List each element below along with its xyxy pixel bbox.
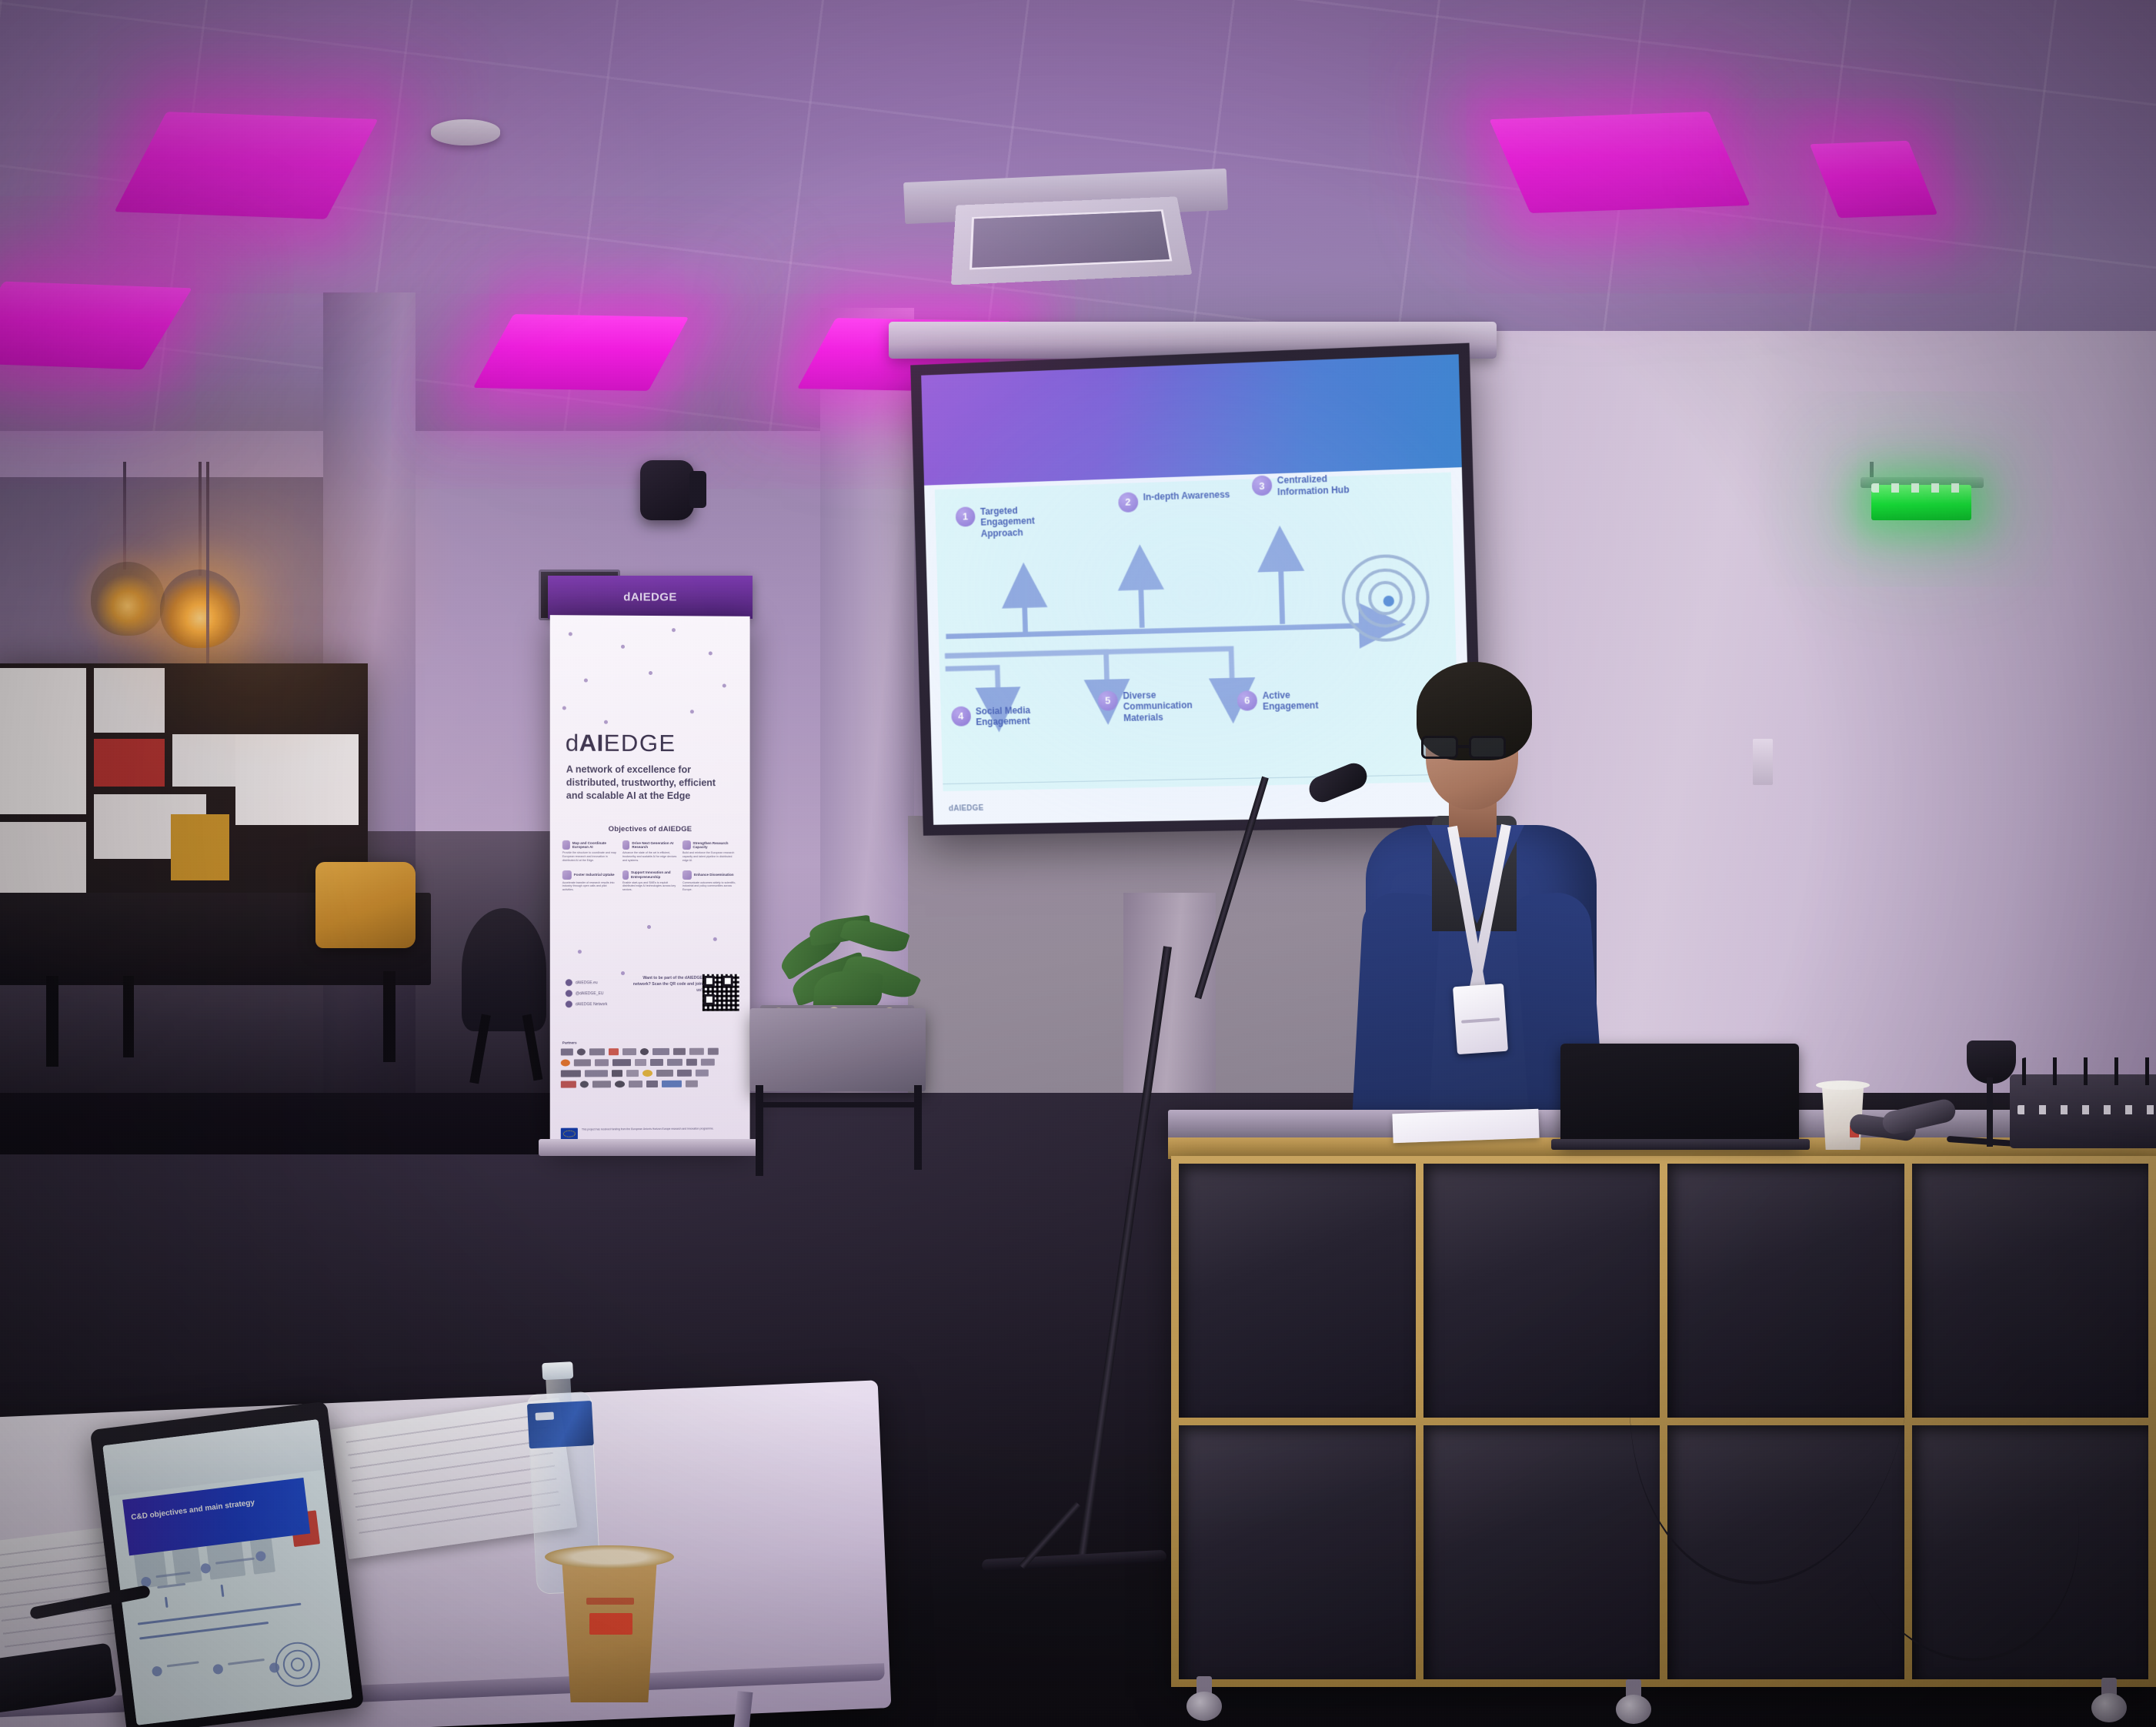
- partner-logo: [592, 1081, 611, 1087]
- partner-logo: [673, 1048, 686, 1055]
- partner-logo: [580, 1081, 589, 1087]
- wall-socket-plate: [1753, 739, 1773, 785]
- banner-link[interactable]: @dAIEDGE_EU: [566, 990, 608, 997]
- partner-logo-row: [561, 1069, 739, 1077]
- partner-logo: [595, 1059, 609, 1066]
- planter-stand-leg: [914, 1085, 922, 1170]
- objective-title: Enhance Dissemination: [694, 873, 734, 877]
- partner-logo-row: [561, 1058, 739, 1066]
- objective-text: Advance the state of the art in efficien…: [622, 851, 678, 863]
- audio-rack-handles: [2016, 1057, 2156, 1085]
- objective-icon: [622, 840, 629, 850]
- partner-logo: [561, 1081, 576, 1087]
- partner-logo-row: [561, 1048, 739, 1056]
- foreground-laptop[interactable]: C&D objectives and main strategy: [90, 1401, 364, 1727]
- partner-logo: [646, 1081, 658, 1087]
- roll-up-banner: dAIEDGE A network of excellence for dist…: [550, 615, 750, 1147]
- mini-arrow: [220, 1584, 224, 1596]
- audio-rack-leds: [2017, 1105, 2156, 1114]
- slide-objective: 4 Social Media Engagement: [951, 704, 1031, 728]
- slide-objective: 5 Diverse Communication Materials: [1098, 689, 1193, 725]
- eu-flag-icon: [561, 1128, 578, 1140]
- partner-logo: [640, 1048, 649, 1055]
- banner-objectives-heading: Objectives of dAIEDGE: [550, 825, 750, 833]
- objective-number: 3: [1252, 475, 1273, 496]
- globe-icon: [566, 979, 572, 986]
- banner-cta-text: Want to be part of the dAIEDGE network? …: [627, 976, 703, 994]
- banner-link-label: dAIEDGE Network: [576, 1002, 608, 1007]
- linkedin-icon: [566, 1000, 572, 1007]
- partner-logo: [708, 1048, 719, 1055]
- presenter-view-slide: C&D objectives and main strategy: [102, 1419, 352, 1725]
- banner-base: [539, 1139, 763, 1156]
- partner-logo: [667, 1059, 683, 1066]
- partner-logo: [662, 1081, 682, 1087]
- shelf-cube: [1179, 1164, 1416, 1418]
- partner-logo: [615, 1081, 625, 1087]
- desk-laptop[interactable]: [1560, 1044, 1799, 1145]
- mini-label: [167, 1661, 199, 1667]
- slide-objective: 6 Active Engagement: [1237, 689, 1318, 713]
- partner-logo: [689, 1048, 704, 1055]
- planter-stand-rail: [756, 1102, 922, 1107]
- objective-label: In-depth Awareness: [1143, 489, 1230, 503]
- bench-leg: [383, 971, 395, 1062]
- partner-logo: [701, 1059, 715, 1066]
- desktop-mic-stand: [1987, 1077, 1993, 1147]
- paper-cup-rim: [1816, 1081, 1870, 1090]
- partner-logo: [650, 1059, 663, 1066]
- target-rings-icon: [1341, 553, 1437, 649]
- lounge-chair: [462, 908, 546, 1031]
- pendant-cord: [123, 462, 126, 570]
- kraft-cup-logo-top: [586, 1598, 634, 1605]
- wall-speaker: [640, 460, 694, 520]
- planter-stand-leg: [756, 1085, 763, 1176]
- banner-objective-block: Enhance Dissemination Communicate outcom…: [683, 870, 738, 893]
- kraft-cup-logo: [589, 1613, 632, 1635]
- objective-title: Strengthen Research Capacity: [693, 841, 737, 849]
- partner-logo: [677, 1070, 692, 1077]
- banner-tagline: A network of excellence for distributed,…: [566, 763, 728, 803]
- pendant-cord: [199, 462, 202, 576]
- objective-number: 5: [1098, 690, 1118, 710]
- pendant-cord: [206, 462, 209, 685]
- shelf-caster: [2091, 1678, 2127, 1722]
- banner-objective-block: Drive Next Generation AI Research Advanc…: [622, 840, 678, 863]
- objective-icon: [683, 840, 691, 850]
- partner-logo: [585, 1070, 608, 1077]
- mondrian-cell-red: [94, 739, 165, 787]
- partner-logo: [686, 1059, 697, 1066]
- objective-title: Foster Industrial Uptake: [574, 873, 615, 877]
- objective-text: Enable start-ups and SMEs to exploit dis…: [622, 881, 678, 893]
- objective-number: 4: [951, 706, 971, 726]
- banner-link[interactable]: dAIEDGE.eu: [566, 979, 608, 986]
- partner-logo: [629, 1081, 642, 1087]
- wordmark-ai: AI: [579, 730, 604, 757]
- mondrian-cell-white: [94, 668, 165, 733]
- objective-text: Provide the structure to coordinate and …: [562, 851, 618, 863]
- objective-label: Active Engagement: [1262, 689, 1318, 713]
- banner-link-label: @dAIEDGE_EU: [576, 991, 604, 996]
- mondrian-wall-art: [0, 663, 368, 917]
- objective-icon: [683, 870, 692, 880]
- partner-logo: [561, 1048, 573, 1055]
- partner-logo: [612, 1059, 631, 1066]
- bench-leg: [123, 976, 134, 1057]
- qr-code[interactable]: [703, 974, 739, 1011]
- objective-title: Drive Next Generation AI Research: [632, 841, 678, 849]
- objective-title: Support Innovation and Entrepreneurship: [631, 870, 678, 878]
- kraft-cup-rim: [545, 1545, 674, 1568]
- objective-text: Accelerate transfer of research results …: [562, 881, 618, 893]
- banner-top-logo: dAIEDGE: [623, 591, 676, 604]
- shelf-cube: [1179, 1425, 1416, 1679]
- banner-link[interactable]: dAIEDGE Network: [566, 1000, 608, 1007]
- printed-notes[interactable]: [1392, 1109, 1539, 1144]
- mini-label: [228, 1659, 265, 1665]
- objective-label: Diverse Communication Materials: [1123, 689, 1193, 724]
- bottle-label-mark: [536, 1412, 554, 1421]
- mini-objective-node: [212, 1664, 223, 1675]
- shelf-caster: [1616, 1679, 1651, 1724]
- partner-logo: [561, 1059, 570, 1066]
- air-conditioning-vent: [951, 196, 1192, 285]
- conference-room-scene: C&D objectives and main strategy: [0, 0, 2156, 1727]
- objective-label: Targeted Engagement Approach: [980, 504, 1036, 539]
- banner-links: dAIEDGE.eu @dAIEDGE_EU dAIEDGE Network: [566, 979, 608, 1011]
- mini-arrow: [165, 1597, 169, 1608]
- partner-logo: [589, 1048, 605, 1055]
- bench-leg: [46, 976, 58, 1067]
- slide-header-bar: [921, 354, 1462, 485]
- banner-partner-logos: [561, 1048, 739, 1092]
- objective-text: Communicate outcomes widely to scientifi…: [683, 881, 738, 893]
- objective-label: Centralized Information Hub: [1277, 473, 1350, 498]
- banner-objective-block: Map and Coordinate European AI Provide t…: [562, 840, 618, 863]
- objective-text: Build and reinforce the European researc…: [683, 851, 738, 863]
- slide-objective: 1 Targeted Engagement Approach: [956, 504, 1036, 540]
- objective-number: 2: [1118, 492, 1138, 513]
- partner-logo: [696, 1070, 709, 1077]
- mini-target-rings: [273, 1639, 325, 1691]
- slide-footer-logo: dAIEDGE: [949, 804, 984, 813]
- desk-laptop-base: [1551, 1139, 1810, 1150]
- partner-logo: [642, 1070, 652, 1077]
- partner-logo: [622, 1048, 636, 1055]
- banner-objective-block: Strengthen Research Capacity Build and r…: [683, 840, 738, 863]
- objective-icon: [622, 870, 629, 880]
- partner-logo: [612, 1070, 622, 1077]
- banner-objectives-grid: Map and Coordinate European AI Provide t…: [562, 840, 738, 892]
- wordmark-edge: EDGE: [604, 730, 676, 757]
- vent-grille: [970, 209, 1172, 269]
- objective-label: Social Media Engagement: [976, 704, 1031, 728]
- bottle-cap[interactable]: [542, 1361, 573, 1380]
- partner-logo: [577, 1048, 586, 1055]
- foreground-laptop-screen[interactable]: C&D objectives and main strategy: [102, 1419, 352, 1725]
- speaker-mount: [689, 471, 706, 508]
- objective-number: 1: [956, 506, 976, 527]
- funding-text: This project has received funding from t…: [582, 1127, 739, 1131]
- pendant-lamp: [91, 562, 165, 636]
- banner-objective-block: Foster Industrial Uptake Accelerate tran…: [562, 870, 618, 892]
- shelf-cube: [1423, 1425, 1660, 1679]
- partner-logo-row: [561, 1080, 739, 1087]
- shelf-cube: [1423, 1164, 1660, 1418]
- objective-number: 6: [1237, 690, 1257, 711]
- mondrian-cell-yellow: [171, 814, 229, 880]
- partner-logo: [626, 1070, 639, 1077]
- mini-arrow: [138, 1603, 302, 1625]
- banner-funding-statement: This project has received funding from t…: [561, 1127, 739, 1139]
- banner-objective-block: Support Innovation and Entrepreneurship …: [622, 870, 678, 893]
- mondrian-cell-white: [235, 734, 359, 825]
- ceiling-led-panel: [1489, 112, 1750, 213]
- twitter-icon: [566, 990, 572, 997]
- bottle-label: [527, 1401, 594, 1448]
- partner-logo: [652, 1048, 669, 1055]
- planter-box: [750, 1008, 926, 1091]
- shelf-caster: [1186, 1676, 1222, 1721]
- partner-logo: [574, 1059, 591, 1066]
- mondrian-cell-white: [0, 668, 86, 814]
- banner-partners-label: Partners: [562, 1041, 577, 1044]
- glasses-icon: [1421, 736, 1515, 759]
- partner-logo: [656, 1070, 673, 1077]
- mini-arrow: [139, 1621, 269, 1639]
- objective-icon: [562, 870, 572, 879]
- slide-objective: 2 In-depth Awareness: [1118, 489, 1230, 513]
- orange-cushion: [315, 862, 416, 948]
- mini-objective-node: [152, 1665, 162, 1676]
- partner-logo: [686, 1081, 698, 1087]
- slide-objective: 3 Centralized Information Hub: [1252, 473, 1350, 499]
- objective-icon: [562, 840, 570, 850]
- wordmark-d: d: [566, 730, 579, 757]
- partner-logo: [609, 1048, 619, 1055]
- banner-wordmark: dAIEDGE: [566, 730, 676, 758]
- conference-badge: [1453, 984, 1508, 1054]
- partner-logo: [561, 1070, 581, 1077]
- green-led-diodes: [1871, 483, 1971, 493]
- banner-top-rail: dAIEDGE: [548, 576, 753, 619]
- pendant-lamp: [160, 570, 240, 648]
- partner-logo: [635, 1059, 646, 1066]
- smoke-detector: [431, 119, 500, 145]
- objective-title: Map and Coordinate European AI: [572, 841, 618, 849]
- banner-link-label: dAIEDGE.eu: [576, 980, 598, 985]
